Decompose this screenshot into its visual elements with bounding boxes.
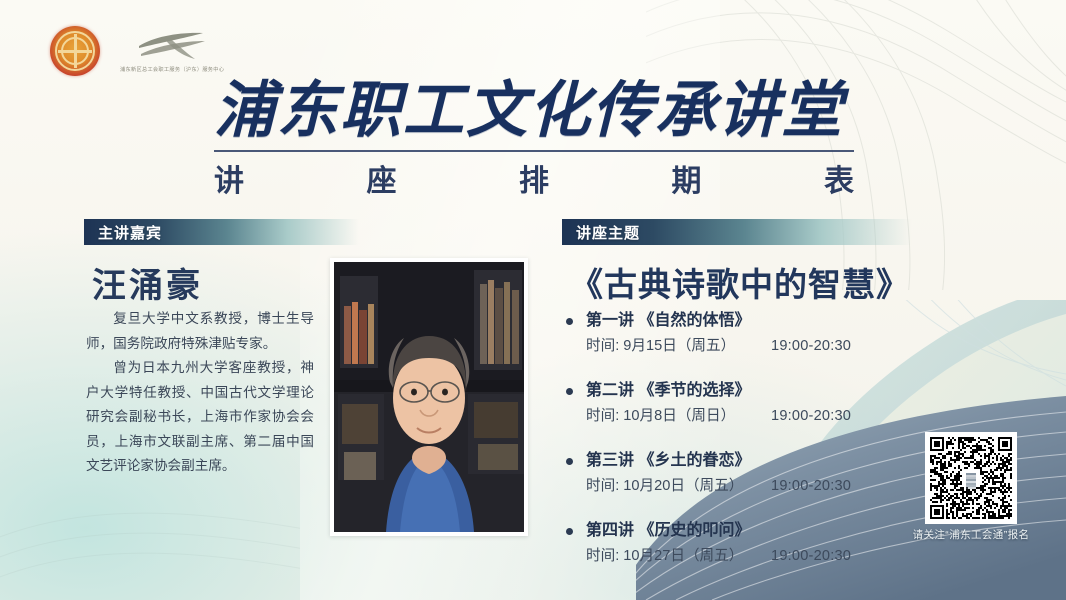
- section-header-topic: 讲座主题: [562, 219, 912, 245]
- subtitle-char: 排: [519, 156, 549, 200]
- lecture-index: 第二讲: [586, 380, 634, 402]
- list-item[interactable]: 第二讲 《季节的选择》 时间: 10月8日（周日） 19:00-20:30: [566, 380, 966, 427]
- section-header-topic-label: 讲座主题: [562, 222, 640, 243]
- subtitle-char: 期: [672, 156, 702, 200]
- lecture-name: 《季节的选择》: [638, 380, 750, 402]
- lecture-time: 19:00-20:30: [771, 546, 851, 567]
- bullet-icon: [566, 458, 573, 465]
- lecture-date: 时间: 10月8日（周日）: [586, 406, 771, 427]
- service-center-logo-caption: 浦东新区总工会职工服务（沪东）服务中心: [120, 67, 224, 74]
- lecture-list: 第一讲 《自然的体悟》 时间: 9月15日（周五） 19:00-20:30 第二…: [566, 310, 966, 590]
- lecture-index: 第一讲: [586, 310, 634, 332]
- section-header-guest-label: 主讲嘉宾: [84, 222, 162, 243]
- section-header-guest: 主讲嘉宾: [84, 219, 359, 245]
- bullet-icon: [566, 318, 573, 325]
- speaker-bio-paragraph: 复旦大学中文系教授，博士生导师，国务院政府特殊津贴专家。: [86, 307, 314, 356]
- page-title: 浦东职工文化传承讲堂: [214, 78, 854, 144]
- qr-code-block[interactable]: [925, 432, 1017, 524]
- lecture-time: 19:00-20:30: [771, 476, 851, 497]
- lecture-series-title: 《古典诗歌中的智慧》: [570, 258, 910, 306]
- title-divider: [214, 150, 854, 152]
- lecture-time: 19:00-20:30: [771, 336, 851, 357]
- subtitle-char: 讲: [214, 156, 244, 200]
- lecture-date: 时间: 10月20日（周五）: [586, 476, 771, 497]
- speaker-bio-paragraph: 曾为日本九州大学客座教授，神户大学特任教授、中国古代文学理论研究会副秘书长，上海…: [86, 356, 314, 479]
- subtitle-char: 座: [367, 156, 397, 200]
- lecture-name: 《历史的叩问》: [638, 520, 750, 542]
- lecture-name: 《自然的体悟》: [638, 310, 750, 332]
- logo-row: 浦东新区总工会职工服务（沪东）服务中心: [50, 26, 224, 76]
- speaker-bio: 复旦大学中文系教授，博士生导师，国务院政府特殊津贴专家。 曾为日本九州大学客座教…: [86, 307, 314, 479]
- union-emblem-icon: [50, 26, 100, 76]
- service-center-logo: 浦东新区总工会职工服务（沪东）服务中心: [120, 26, 224, 74]
- lecture-index: 第四讲: [586, 520, 634, 542]
- bullet-icon: [566, 388, 573, 395]
- qr-code-caption: 请关注“浦东工会通”报名: [893, 527, 1049, 542]
- lecture-time: 19:00-20:30: [771, 406, 851, 427]
- lecture-index: 第三讲: [586, 450, 634, 472]
- subtitle-char: 表: [824, 156, 854, 200]
- page-subtitle: 讲 座 排 期 表: [214, 156, 854, 200]
- qr-code-icon[interactable]: [925, 432, 1017, 524]
- bullet-icon: [566, 528, 573, 535]
- list-item[interactable]: 第三讲 《乡土的眷恋》 时间: 10月20日（周五） 19:00-20:30: [566, 450, 966, 497]
- lecture-date: 时间: 9月15日（周五）: [586, 336, 771, 357]
- brush-strokes-icon: [137, 30, 207, 64]
- list-item[interactable]: 第一讲 《自然的体悟》 时间: 9月15日（周五） 19:00-20:30: [566, 310, 966, 357]
- speaker-portrait-image: [334, 262, 524, 532]
- poster-root: 浦东新区总工会职工服务（沪东）服务中心 浦东职工文化传承讲堂 讲 座 排 期 表…: [0, 0, 1066, 600]
- speaker-name: 汪涌豪: [92, 258, 203, 307]
- lecture-date: 时间: 10月27日（周五）: [586, 546, 771, 567]
- speaker-photo: [330, 258, 528, 536]
- lecture-name: 《乡土的眷恋》: [638, 450, 750, 472]
